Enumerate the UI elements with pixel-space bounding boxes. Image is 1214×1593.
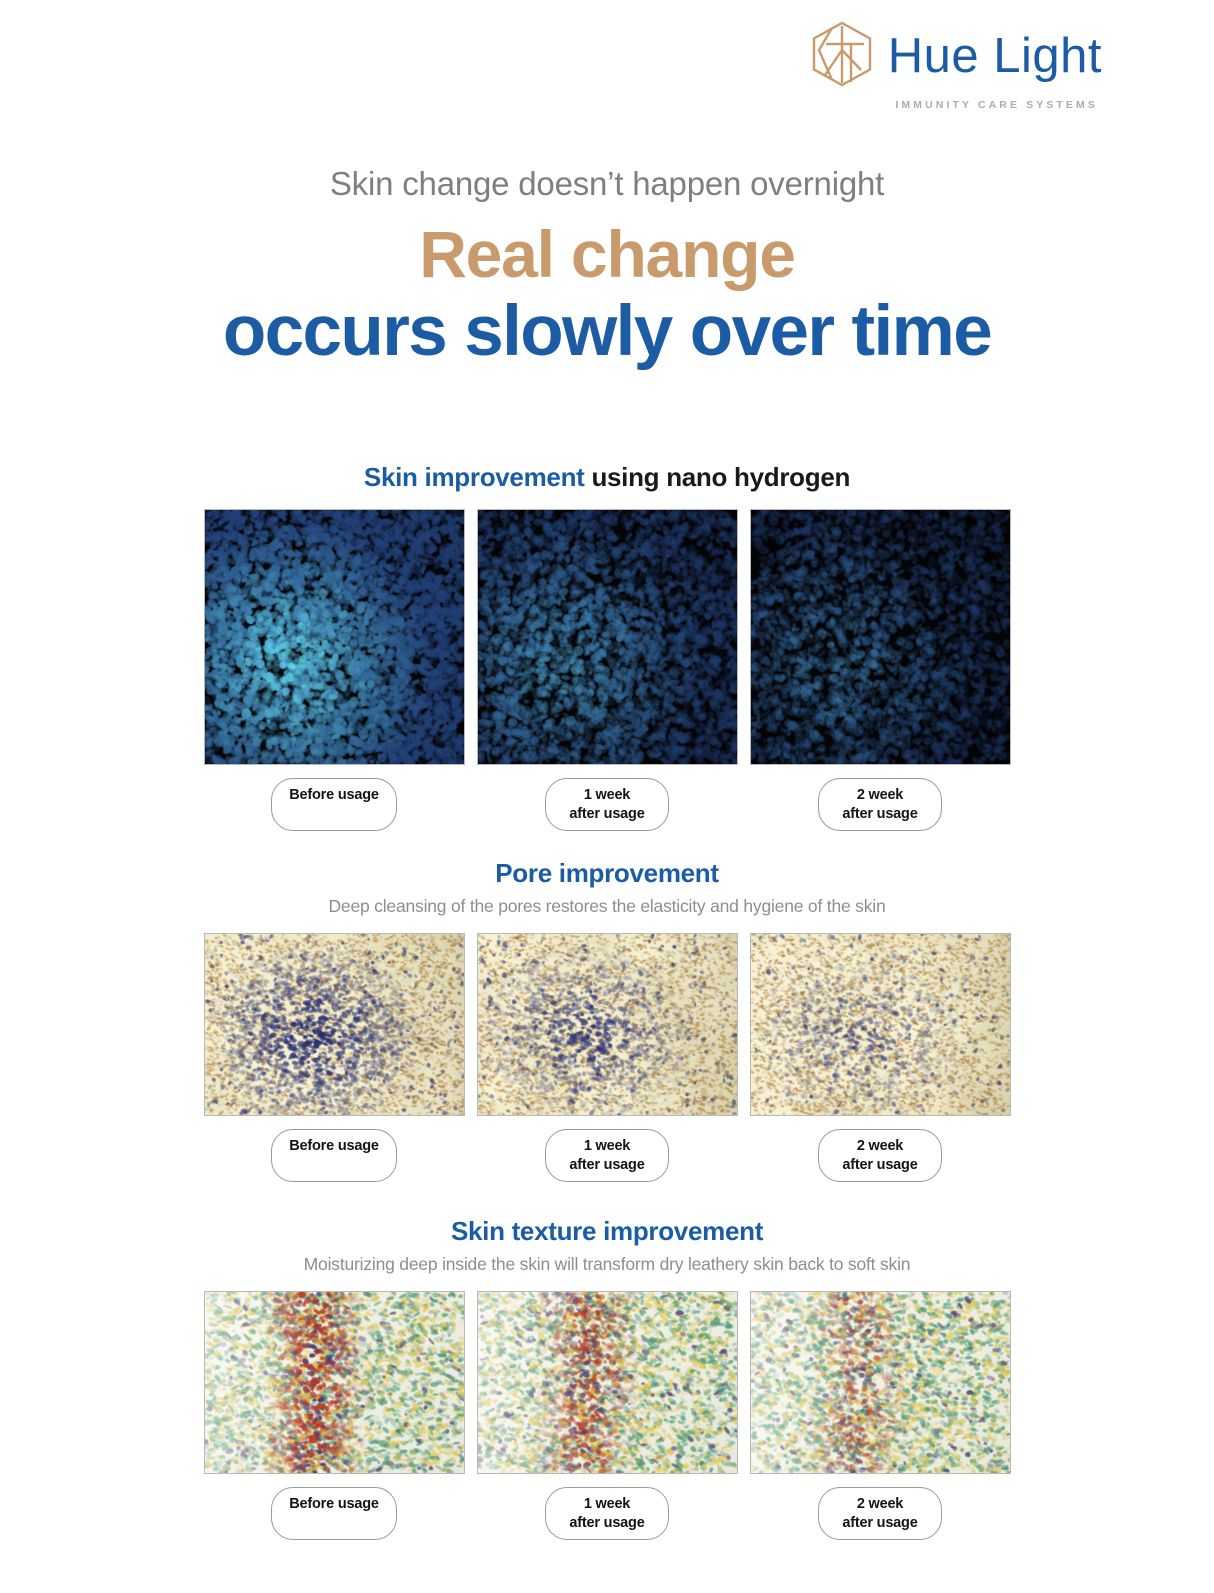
- caption-strip-pore: Before usage1 weekafter usage2 weekafter…: [0, 1129, 1214, 1182]
- section-heading-accent: Skin improvement: [364, 462, 585, 492]
- panel-skin-week1: [477, 509, 738, 765]
- headline-block: Skin change doesn’t happen overnight Rea…: [0, 163, 1214, 372]
- caption-line-1: Before usage: [289, 1496, 378, 1512]
- panel-pore-before: [204, 933, 465, 1116]
- panel-skin-before: [204, 509, 465, 765]
- panel-skin-week1-image: [478, 510, 737, 764]
- caption-cell: 2 weekafter usage: [750, 1487, 1011, 1540]
- panel-pore-week1: [477, 933, 738, 1116]
- caption-line-2: after usage: [563, 805, 651, 824]
- caption-line-2: after usage: [836, 1514, 924, 1533]
- panel-pore-before-image: [205, 934, 464, 1115]
- headline-line-blue: occurs slowly over time: [0, 292, 1214, 372]
- panel-pore-week2: [750, 933, 1011, 1116]
- caption-strip-skin: Before usage1 weekafter usage2 weekafter…: [0, 778, 1214, 831]
- panel-texture-week1: [477, 1291, 738, 1474]
- section-heading-skin: Skin improvement using nano hydrogen: [0, 462, 1214, 493]
- caption-line-1: Before usage: [289, 1138, 378, 1154]
- caption-line-2: after usage: [836, 805, 924, 824]
- panel-skin-before-image: [205, 510, 464, 764]
- caption-cell: Before usage: [204, 778, 465, 831]
- caption-line-2: after usage: [563, 1156, 651, 1175]
- brand-name: Hue Light: [888, 32, 1102, 81]
- section-texture-improvement: Skin texture improvementMoisturizing dee…: [0, 1216, 1214, 1540]
- caption-cell: Before usage: [204, 1487, 465, 1540]
- hexagon-logo-icon: [806, 20, 878, 93]
- caption-cell: Before usage: [204, 1129, 465, 1182]
- caption-line-2: after usage: [836, 1156, 924, 1175]
- panel-skin-week2-image: [751, 510, 1010, 764]
- section-subtitle-texture: Moisturizing deep inside the skin will t…: [0, 1254, 1214, 1275]
- panel-texture-before-image: [205, 1292, 464, 1473]
- headline-line-tan: Real change: [0, 216, 1214, 294]
- caption-pill-week2[interactable]: 2 weekafter usage: [818, 1487, 942, 1540]
- caption-line-1: Before usage: [289, 787, 378, 803]
- section-heading-texture: Skin texture improvement: [0, 1216, 1214, 1247]
- caption-pill-before[interactable]: Before usage: [271, 778, 396, 831]
- panel-texture-week1-image: [478, 1292, 737, 1473]
- section-skin-improvement: Skin improvement using nano hydrogenBefo…: [0, 462, 1214, 831]
- caption-line-1: 2 week: [857, 1138, 903, 1154]
- caption-line-1: 1 week: [584, 787, 630, 803]
- brand-logo-header: Hue Light IMMUNITY CARE SYSTEMS: [806, 20, 1102, 111]
- section-subtitle-pore: Deep cleansing of the pores restores the…: [0, 896, 1214, 917]
- panel-pore-week2-image: [751, 934, 1010, 1115]
- headline-kicker: Skin change doesn’t happen overnight: [0, 163, 1214, 204]
- caption-cell: 1 weekafter usage: [477, 778, 738, 831]
- caption-line-1: 1 week: [584, 1138, 630, 1154]
- section-heading-accent: Skin texture improvement: [451, 1216, 763, 1246]
- caption-cell: 1 weekafter usage: [477, 1129, 738, 1182]
- caption-line-1: 2 week: [857, 787, 903, 803]
- caption-pill-week1[interactable]: 1 weekafter usage: [545, 1487, 669, 1540]
- caption-line-2: after usage: [563, 1514, 651, 1533]
- brand-tagline: IMMUNITY CARE SYSTEMS: [895, 99, 1098, 111]
- caption-pill-before[interactable]: Before usage: [271, 1487, 396, 1540]
- section-pore-improvement: Pore improvementDeep cleansing of the po…: [0, 858, 1214, 1182]
- caption-cell: 2 weekafter usage: [750, 778, 1011, 831]
- caption-strip-texture: Before usage1 weekafter usage2 weekafter…: [0, 1487, 1214, 1540]
- panel-strip-skin: [0, 509, 1214, 765]
- panel-skin-week2: [750, 509, 1011, 765]
- caption-line-1: 1 week: [584, 1496, 630, 1512]
- panel-pore-week1-image: [478, 934, 737, 1115]
- panel-texture-week2: [750, 1291, 1011, 1474]
- caption-cell: 2 weekafter usage: [750, 1129, 1011, 1182]
- caption-pill-week1[interactable]: 1 weekafter usage: [545, 1129, 669, 1182]
- section-heading-plain: using nano hydrogen: [585, 462, 851, 492]
- caption-pill-before[interactable]: Before usage: [271, 1129, 396, 1182]
- panel-texture-week2-image: [751, 1292, 1010, 1473]
- panel-strip-pore: [0, 933, 1214, 1116]
- caption-pill-week1[interactable]: 1 weekafter usage: [545, 778, 669, 831]
- caption-pill-week2[interactable]: 2 weekafter usage: [818, 778, 942, 831]
- caption-pill-week2[interactable]: 2 weekafter usage: [818, 1129, 942, 1182]
- section-heading-accent: Pore improvement: [495, 858, 719, 888]
- panel-texture-before: [204, 1291, 465, 1474]
- caption-cell: 1 weekafter usage: [477, 1487, 738, 1540]
- section-heading-pore: Pore improvement: [0, 858, 1214, 889]
- panel-strip-texture: [0, 1291, 1214, 1474]
- caption-line-1: 2 week: [857, 1496, 903, 1512]
